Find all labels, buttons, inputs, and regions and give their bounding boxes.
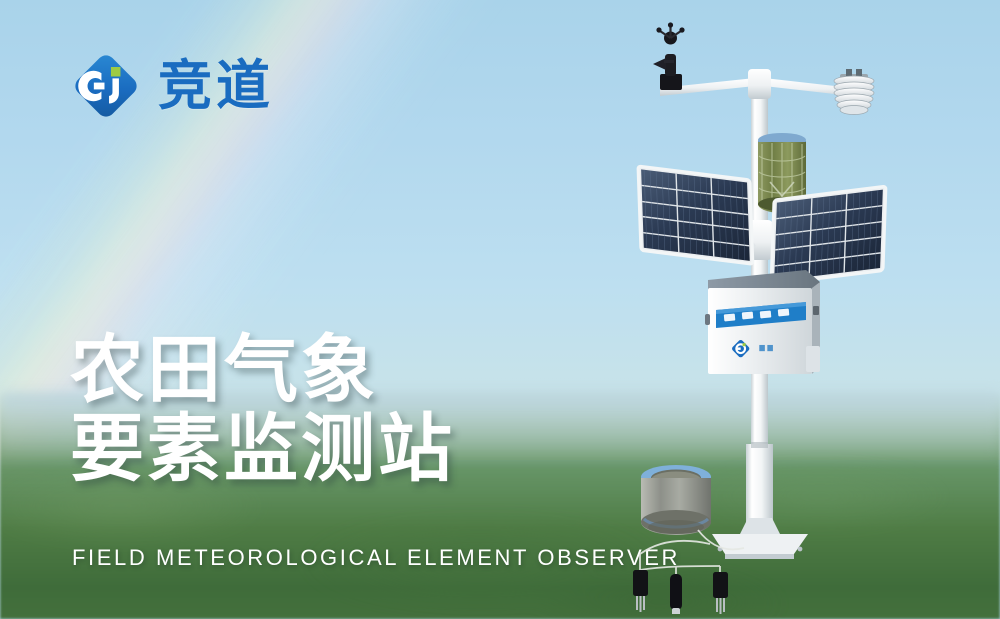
jingdao-diamond-logo-icon xyxy=(68,48,144,124)
solar-panel-right xyxy=(771,186,886,284)
brand-logo-block: 竞道 xyxy=(68,48,274,124)
headline-line-2: 要素监测站 xyxy=(70,409,590,488)
weather-station-illustration xyxy=(620,14,950,614)
soil-sensor-1 xyxy=(633,570,648,612)
poster-canvas: 竞道 农田气象 要素监测站 FIELD METEOROLOGICAL ELEME… xyxy=(0,0,1000,619)
brand-name: 竞道 xyxy=(158,59,274,113)
tipping-bucket-rain-gauge xyxy=(641,465,711,535)
base-plate xyxy=(712,518,808,559)
soil-sensor-3 xyxy=(713,572,728,614)
radiation-shield-icon xyxy=(834,69,874,115)
wind-sensor-icon xyxy=(653,22,685,90)
soil-sensor-2 xyxy=(670,574,682,614)
solar-panel-left xyxy=(638,166,753,264)
page-title: 农田气象 要素监测站 xyxy=(70,330,590,488)
page-subtitle: FIELD METEOROLOGICAL ELEMENT OBSERVER xyxy=(72,545,680,571)
headline-line-1: 农田气象 xyxy=(70,330,590,409)
control-cabinet xyxy=(705,270,820,374)
